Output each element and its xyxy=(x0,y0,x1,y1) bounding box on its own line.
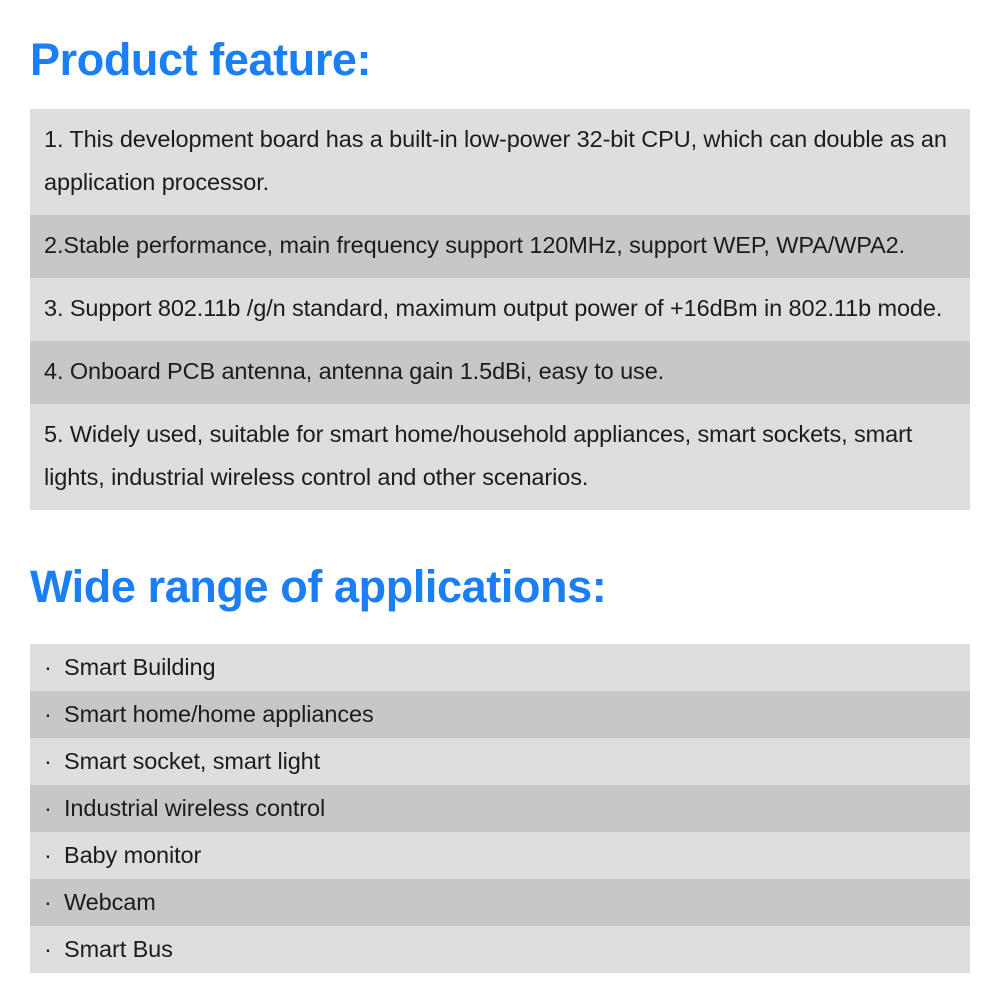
application-label: Smart socket, smart light xyxy=(64,748,320,775)
applications-heading: Wide range of applications: xyxy=(30,563,606,610)
bullet-icon: · xyxy=(44,797,64,821)
product-feature-list: 1. This development board has a built-in… xyxy=(30,109,970,510)
application-label: Smart Building xyxy=(64,654,215,681)
application-label: Baby monitor xyxy=(64,842,201,869)
bullet-icon: · xyxy=(44,750,64,774)
feature-list-item: 1. This development board has a built-in… xyxy=(30,109,970,215)
bullet-icon: · xyxy=(44,891,64,915)
application-list-item: · Industrial wireless control xyxy=(30,785,970,832)
application-list-item: · Smart home/home appliances xyxy=(30,691,970,738)
applications-list: · Smart Building · Smart home/home appli… xyxy=(30,644,970,973)
application-list-item: · Smart Building xyxy=(30,644,970,691)
product-feature-page: Product feature: 1. This development boa… xyxy=(0,0,1000,1000)
feature-list-item: 2.Stable performance, main frequency sup… xyxy=(30,215,970,278)
bullet-icon: · xyxy=(44,703,64,727)
feature-list-item: 3. Support 802.11b /g/n standard, maximu… xyxy=(30,278,970,341)
product-feature-heading: Product feature: xyxy=(30,36,371,83)
application-label: Smart home/home appliances xyxy=(64,701,374,728)
bullet-icon: · xyxy=(44,656,64,680)
feature-list-item: 4. Onboard PCB antenna, antenna gain 1.5… xyxy=(30,341,970,404)
application-label: Webcam xyxy=(64,889,156,916)
feature-list-item: 5. Widely used, suitable for smart home/… xyxy=(30,404,970,510)
application-list-item: · Baby monitor xyxy=(30,832,970,879)
bullet-icon: · xyxy=(44,844,64,868)
application-label: Smart Bus xyxy=(64,936,173,963)
application-list-item: · Smart socket, smart light xyxy=(30,738,970,785)
application-list-item: · Webcam xyxy=(30,879,970,926)
application-list-item: · Smart Bus xyxy=(30,926,970,973)
application-label: Industrial wireless control xyxy=(64,795,325,822)
bullet-icon: · xyxy=(44,938,64,962)
